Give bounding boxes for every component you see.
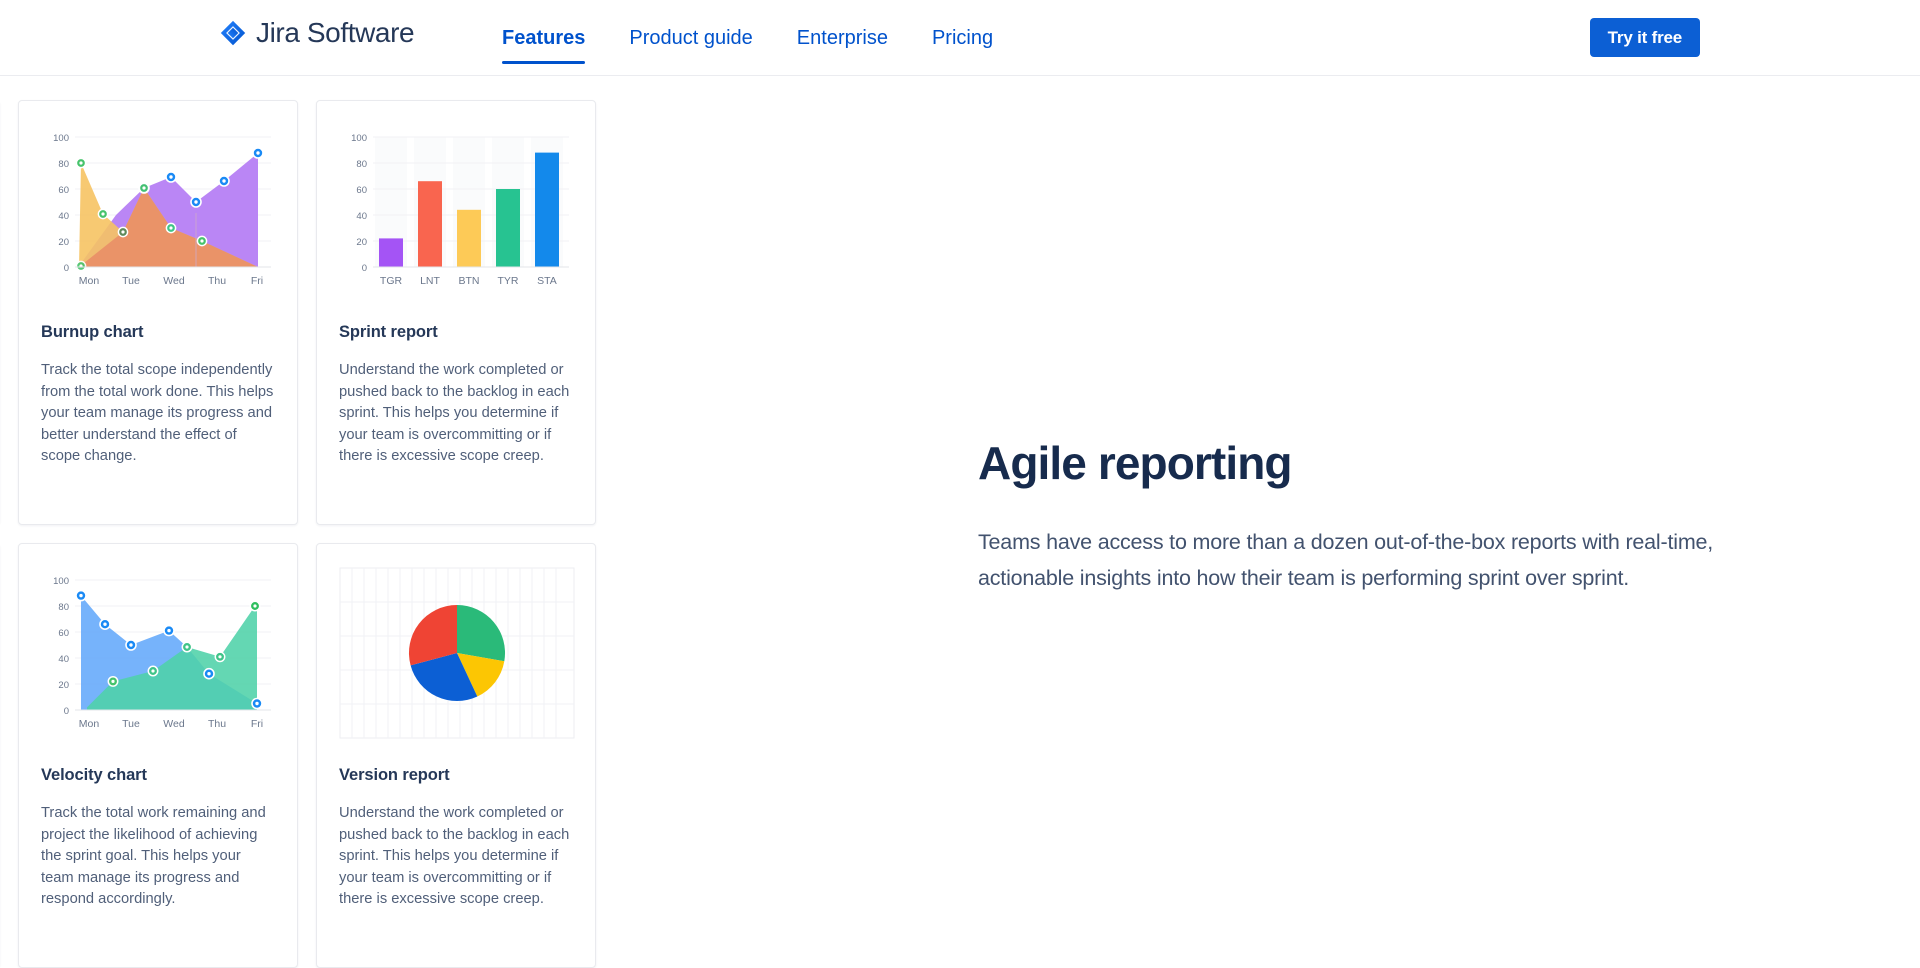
svg-text:40: 40 bbox=[356, 211, 367, 222]
hero-section: Agile reporting Teams have access to mor… bbox=[978, 436, 1718, 596]
svg-text:0: 0 bbox=[362, 263, 367, 274]
svg-text:100: 100 bbox=[351, 133, 367, 144]
try-it-free-button[interactable]: Try it free bbox=[1590, 18, 1700, 57]
nav-item-enterprise[interactable]: Enterprise bbox=[775, 0, 910, 76]
svg-text:0: 0 bbox=[64, 706, 69, 717]
svg-text:20: 20 bbox=[356, 237, 367, 248]
card-description: Track the total scope independently from… bbox=[41, 360, 275, 468]
page-title: Agile reporting bbox=[978, 436, 1718, 490]
card-title: Sprint report bbox=[339, 323, 573, 342]
svg-text:Tue: Tue bbox=[122, 718, 140, 730]
svg-text:TYR: TYR bbox=[498, 275, 519, 287]
card-sprint-report[interactable]: 100 80 60 40 20 0 TGR LNT BTN TYR bbox=[316, 100, 596, 525]
jira-diamond-logo-icon bbox=[220, 20, 246, 46]
svg-text:Mon: Mon bbox=[79, 275, 100, 287]
svg-text:60: 60 bbox=[58, 628, 69, 639]
svg-text:80: 80 bbox=[356, 159, 367, 170]
svg-text:20: 20 bbox=[58, 237, 69, 248]
svg-text:0: 0 bbox=[64, 263, 69, 274]
version-report-chart bbox=[339, 560, 573, 746]
svg-text:20: 20 bbox=[58, 680, 69, 691]
report-card-grid: R LNT BTN TYR STA MUG down chart Track t… bbox=[0, 100, 596, 968]
card-velocity-chart[interactable]: 100 80 60 40 20 0 bbox=[18, 543, 298, 968]
card-title: Velocity chart bbox=[41, 766, 275, 785]
sprint-report-chart: 100 80 60 40 20 0 TGR LNT BTN TYR bbox=[339, 117, 573, 303]
nav-item-product-guide[interactable]: Product guide bbox=[607, 0, 774, 76]
nav-item-pricing[interactable]: Pricing bbox=[910, 0, 1015, 76]
card-version-report[interactable]: Version report Understand the work compl… bbox=[316, 543, 596, 968]
card-description: Understand the work completed or pushed … bbox=[339, 360, 573, 468]
svg-text:60: 60 bbox=[58, 185, 69, 196]
velocity-chart: 100 80 60 40 20 0 bbox=[41, 560, 275, 746]
card-title: Burnup chart bbox=[41, 323, 275, 342]
svg-text:60: 60 bbox=[356, 185, 367, 196]
svg-text:80: 80 bbox=[58, 602, 69, 613]
burnup-chart: 100 80 60 40 20 0 bbox=[41, 117, 275, 303]
svg-text:Fri: Fri bbox=[251, 275, 263, 287]
main-nav: Features Product guide Enterprise Pricin… bbox=[480, 0, 1015, 76]
brand-name: Jira Software bbox=[256, 17, 414, 49]
svg-text:Wed: Wed bbox=[163, 275, 185, 287]
svg-text:100: 100 bbox=[53, 133, 69, 144]
card-description: Understand the work completed or pushed … bbox=[339, 803, 573, 911]
svg-text:LNT: LNT bbox=[420, 275, 440, 287]
svg-text:100: 100 bbox=[53, 576, 69, 587]
svg-text:Fri: Fri bbox=[251, 718, 263, 730]
brand-logo[interactable]: Jira Software bbox=[220, 17, 414, 49]
svg-text:TGR: TGR bbox=[380, 275, 403, 287]
svg-text:40: 40 bbox=[58, 654, 69, 665]
svg-text:BTN: BTN bbox=[459, 275, 480, 287]
svg-text:Mon: Mon bbox=[79, 718, 100, 730]
svg-text:Wed: Wed bbox=[163, 718, 185, 730]
content-stage: R LNT BTN TYR STA MUG down chart Track t… bbox=[0, 76, 1920, 941]
svg-text:Tue: Tue bbox=[122, 275, 140, 287]
nav-item-features[interactable]: Features bbox=[480, 0, 607, 76]
site-header: Jira Software Features Product guide Ent… bbox=[0, 0, 1920, 76]
svg-text:STA: STA bbox=[537, 275, 557, 287]
card-title: Version report bbox=[339, 766, 573, 785]
svg-text:Thu: Thu bbox=[208, 718, 226, 730]
svg-text:Thu: Thu bbox=[208, 275, 226, 287]
card-burnup-chart[interactable]: 100 80 60 40 20 0 bbox=[18, 100, 298, 525]
svg-text:40: 40 bbox=[58, 211, 69, 222]
hero-body: Teams have access to more than a dozen o… bbox=[978, 524, 1718, 596]
svg-text:80: 80 bbox=[58, 159, 69, 170]
card-description: Track the total work remaining and proje… bbox=[41, 803, 275, 911]
